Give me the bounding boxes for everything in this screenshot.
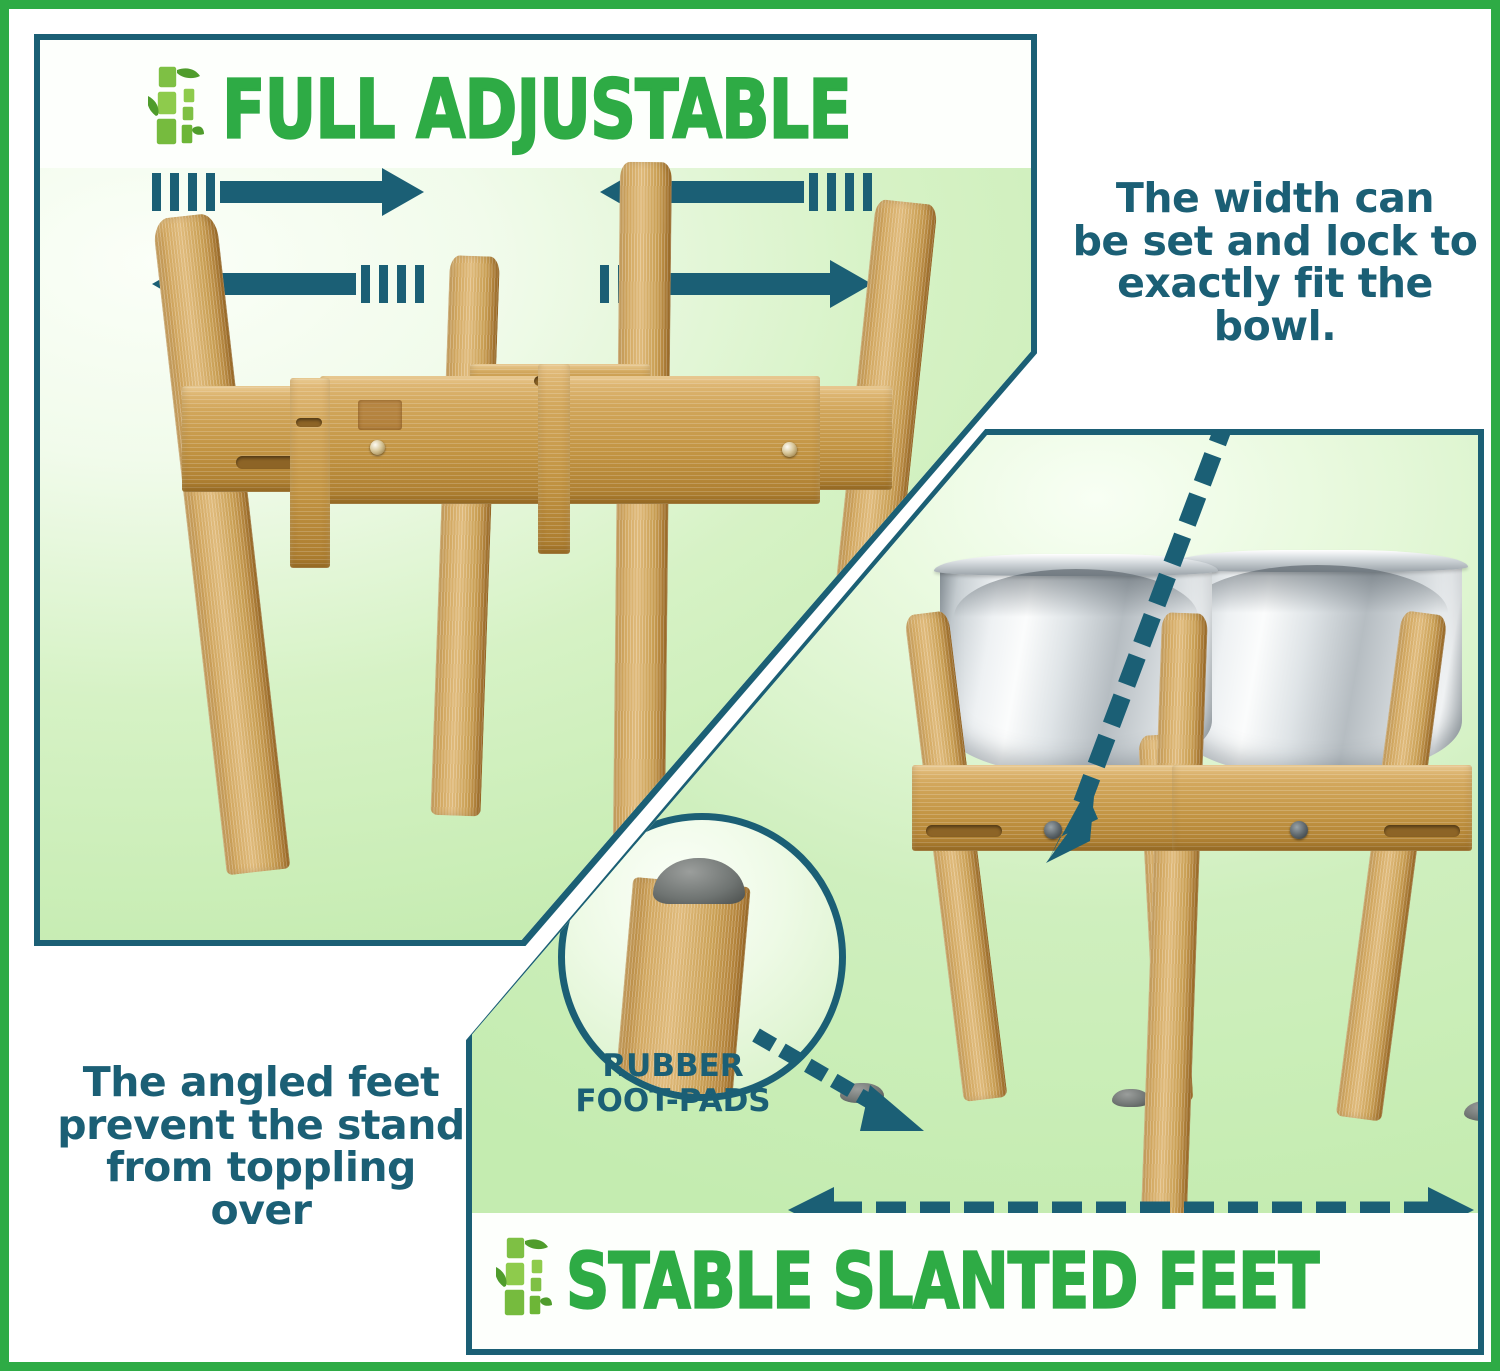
bamboo-leg-outer-left xyxy=(152,212,290,875)
outer-frame: FULL ADJUSTABLE xyxy=(0,0,1500,1371)
stand-rail-slot-right xyxy=(1384,825,1460,837)
caption-rubber-line-1: RUBBER xyxy=(569,1049,777,1084)
heading-row-slanted: STABLE SLANTED FEET xyxy=(472,1213,1478,1349)
panel-stable-slanted-feet: STABLE SLANTED FEET xyxy=(466,429,1484,1355)
bamboo-icon xyxy=(496,1235,552,1327)
rail-bracket-groove xyxy=(296,418,322,427)
caption-angled-line-1: The angled feet xyxy=(51,1061,471,1104)
caption-rubber-footpads: RUBBER FOOT-PADS xyxy=(569,1049,777,1120)
striped-arrow-pointing-to-adjustment-screw xyxy=(1032,435,1252,875)
caption-rubber-line-2: FOOT-PADS xyxy=(569,1084,777,1119)
caption-width-line-3: exactly fit the bowl. xyxy=(1049,262,1500,347)
rubber-pad-closeup xyxy=(653,858,745,904)
panel-inner-slanted: STABLE SLANTED FEET xyxy=(472,435,1478,1349)
caption-angled-line-4: over xyxy=(51,1189,471,1232)
dashed-arrow-pointing-to-foot-pad xyxy=(748,1027,948,1157)
caption-width-line-2: be set and lock to xyxy=(1049,220,1500,263)
caption-width-line-1: The width can xyxy=(1049,177,1500,220)
heading-row-adjustable: FULL ADJUSTABLE xyxy=(40,40,1031,180)
rail-bracket-vertical xyxy=(290,378,330,568)
heading-stable-slanted-feet: STABLE SLANTED FEET xyxy=(566,1236,1319,1326)
caption-width-lock: The width can be set and lock to exactly… xyxy=(1049,177,1500,348)
caption-angled-line-3: from toppling xyxy=(51,1146,471,1189)
heading-full-adjustable: FULL ADJUSTABLE xyxy=(222,63,851,158)
stand-rail-slot-left xyxy=(926,825,1002,837)
caption-angled-line-2: prevent the stand xyxy=(51,1104,471,1147)
brand-logo-stamp-rail xyxy=(358,400,402,430)
stand-rail-screw-right xyxy=(1290,821,1308,839)
bamboo-icon xyxy=(148,64,204,156)
foot-pad-front-right xyxy=(1464,1101,1478,1121)
rail-screw-left xyxy=(370,440,385,455)
caption-angled-feet: The angled feet prevent the stand from t… xyxy=(51,1061,471,1232)
